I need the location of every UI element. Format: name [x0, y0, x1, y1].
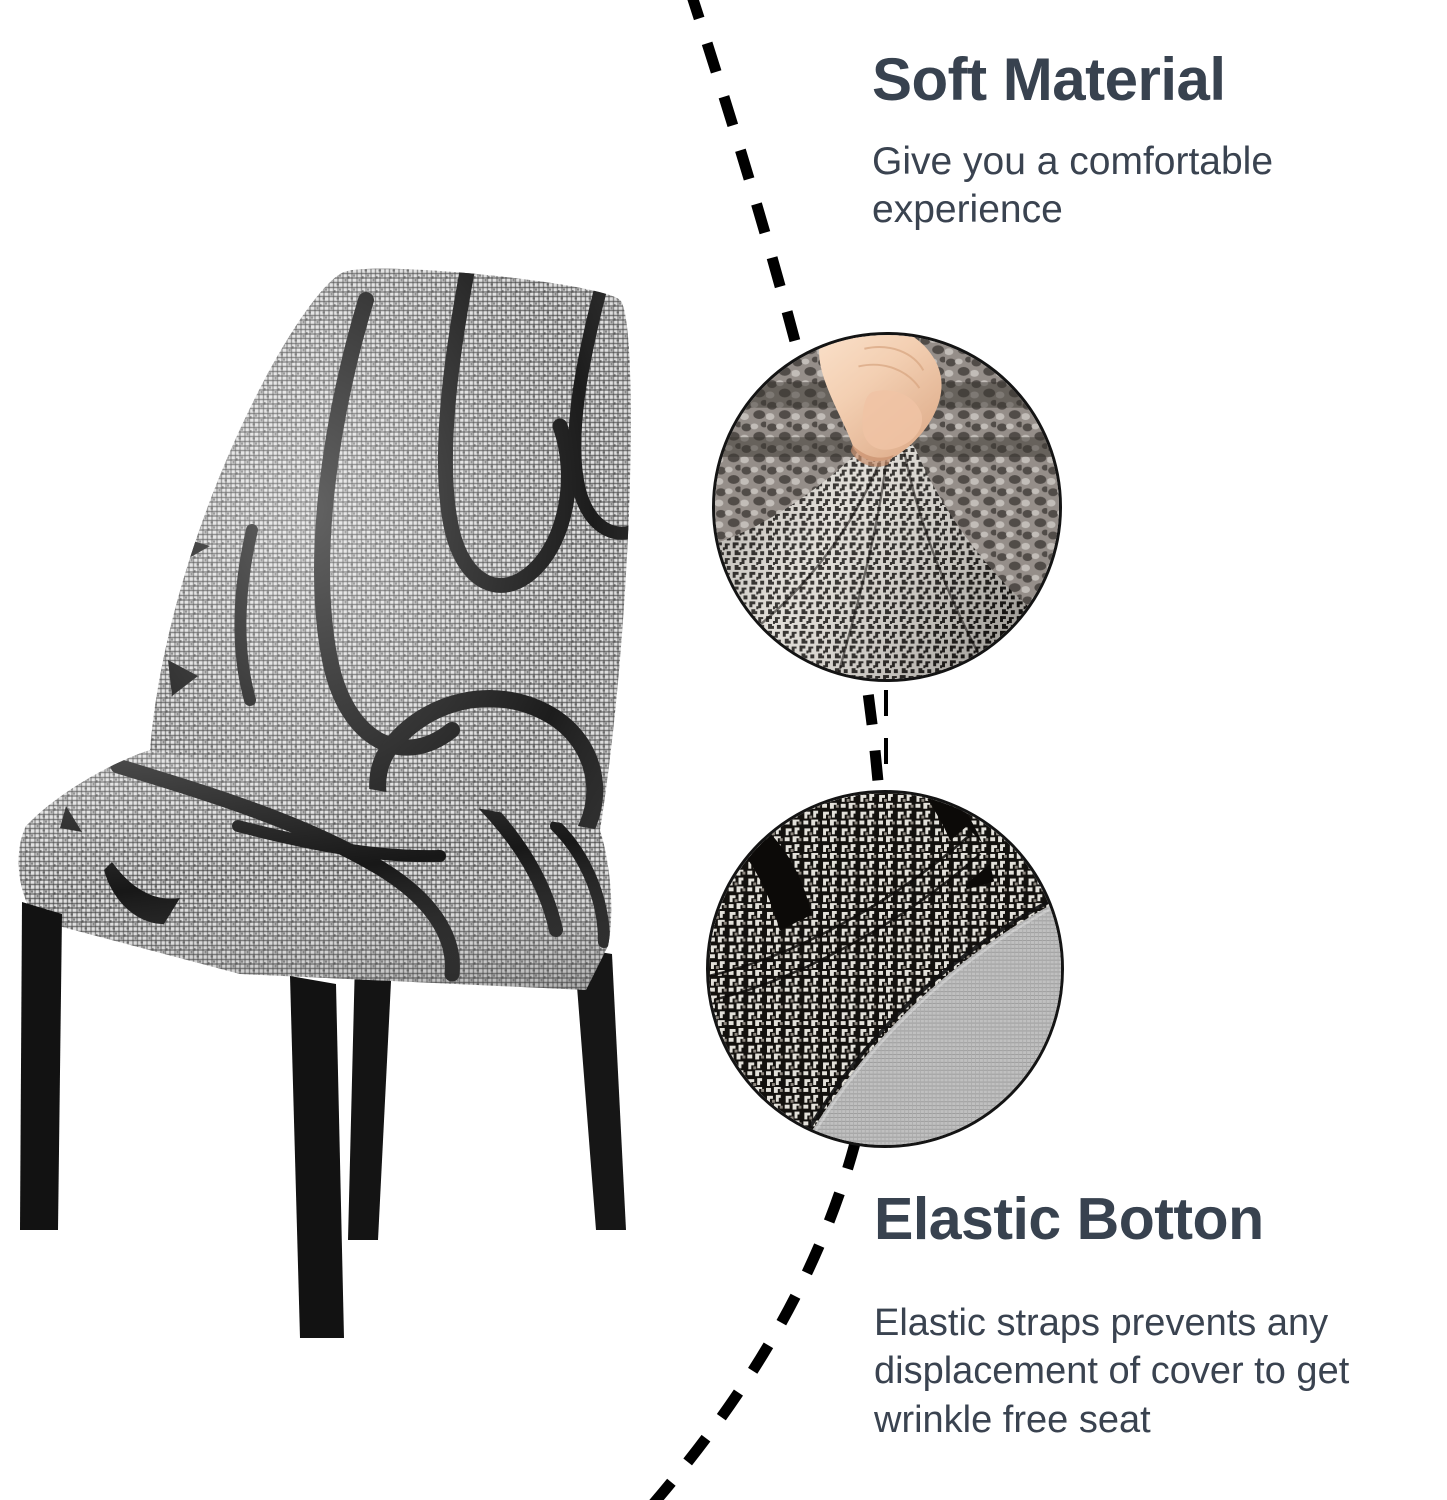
feature-title-soft-material: Soft Material: [872, 48, 1432, 112]
feature-description-elastic-botton: Elastic straps prevents any displacement…: [874, 1299, 1440, 1445]
product-infographic: Soft Material Give you a comfortable exp…: [0, 0, 1447, 1500]
feature-block-soft-material: Soft Material Give you a comfortable exp…: [872, 48, 1432, 234]
feature-title-elastic-botton: Elastic Botton: [874, 1188, 1440, 1251]
fabric-pinch-stretch-photo: [712, 332, 1062, 682]
feature-description-soft-material: Give you a comfortable experience: [872, 138, 1432, 235]
dashed-vertical-connector: [884, 690, 888, 786]
feature-block-elastic-botton: Elastic Botton Elastic straps prevents a…: [874, 1188, 1440, 1444]
elastic-band-edge-photo: [706, 790, 1064, 1148]
chair-image: [0, 230, 700, 1350]
